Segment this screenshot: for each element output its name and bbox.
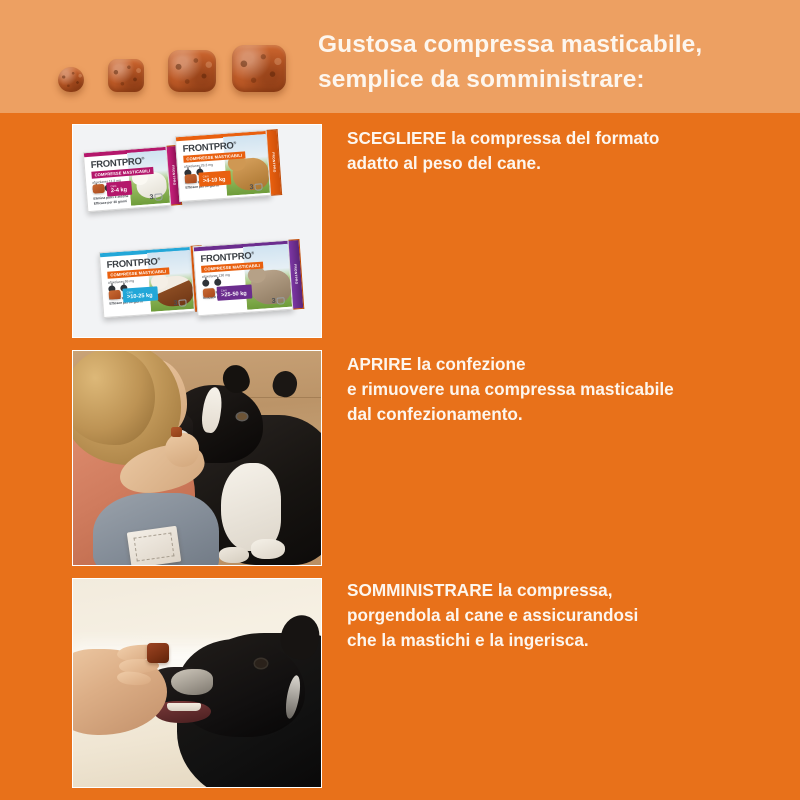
step-2-text: APRIRE la confezione e rimuovere una com… — [347, 352, 777, 426]
box-front-face: FRONTPRO® COMPRESSE MASTICABILI afoxolan… — [83, 146, 171, 212]
box-spine-text: FRONTPRO — [171, 165, 177, 186]
tick-icon — [214, 279, 221, 286]
woman-offering-tablet-photo — [72, 350, 322, 566]
box-spine-text: FRONTPRO — [293, 264, 298, 285]
flea-icon — [202, 279, 209, 286]
indoor-scene — [73, 351, 321, 565]
step-3-line-1-rest: la compressa, — [493, 580, 612, 600]
box-count: 3 — [249, 183, 262, 191]
dog-chest — [221, 463, 281, 551]
dog-paw-back — [219, 547, 249, 563]
step-3-line-3: che la mastichi e la ingerisca. — [347, 628, 777, 653]
tablet-size-l-icon — [232, 45, 286, 92]
woman-hair-front — [73, 351, 155, 445]
step-3-line-2: porgendola al cane e assicurandosi — [347, 603, 777, 628]
headline-line-2: semplice da somministrare: — [318, 63, 788, 98]
headline-line-1: Gustosa compressa masticabile, — [318, 28, 788, 63]
step-1-line-1-rest: la compressa del formato — [446, 128, 659, 148]
box-front-face: FRONTPRO® COMPRESSE MASTICABILI afoxolan… — [99, 246, 195, 318]
box-count-value: 3 — [272, 298, 276, 305]
dog-eye — [255, 659, 267, 668]
box-count-tablet-icon — [154, 193, 163, 201]
product-box-4-10kg: FRONTPRO® COMPRESSE MASTICABILI afoxolan… — [175, 130, 271, 202]
step-1-keyword: SCEGLIERE — [347, 128, 446, 148]
box-weight-badge: Cani >10-25 kg — [122, 287, 158, 303]
step-3-line-1: SOMMINISTRARE la compressa, — [347, 578, 777, 603]
box-chewable-icon — [109, 290, 122, 300]
step-2-line-3: dal confezionamento. — [347, 402, 777, 427]
product-boxes-photo: FRONTPRO® COMPRESSE MASTICABILI afoxolan… — [72, 124, 322, 338]
step-1-line-1: SCEGLIERE la compressa del formato — [347, 126, 777, 151]
woman-hand — [165, 433, 199, 467]
box-front-face: FRONTPRO® COMPRESSE MASTICABILI afoxolan… — [175, 130, 271, 202]
box-weight-badge: Cani 2-4 kg — [106, 181, 132, 197]
header-band: Gustosa compressa masticabile, semplice … — [0, 0, 800, 113]
box-weight-badge: Cani >4-10 kg — [198, 171, 230, 187]
step-1-text: SCEGLIERE la compressa del formato adatt… — [347, 126, 777, 176]
tablet-size-m-icon — [168, 50, 216, 92]
tablet-size-group — [52, 30, 282, 100]
box-count-tablet-icon — [178, 299, 186, 307]
product-box-10-25kg: FRONTPRO® COMPRESSE MASTICABILI afoxolan… — [99, 246, 195, 318]
product-box-2-4kg: FRONTPRO® COMPRESSE MASTICABILI afoxolan… — [83, 146, 171, 212]
box-chewable-icon — [92, 184, 105, 194]
chewable-tablet-in-hand — [147, 643, 169, 663]
box-weight-badge: Cani >25-50 kg — [217, 285, 253, 301]
box-weight-value: 2-4 kg — [111, 187, 128, 194]
box-chewable-icon — [203, 288, 216, 298]
box-count-tablet-icon — [254, 183, 262, 191]
box-front-face: FRONTPRO® COMPRESSE MASTICABILI afoxolan… — [193, 240, 294, 317]
step-2-line-2: e rimuovere una compressa masticabile — [347, 377, 777, 402]
box-count-tablet-icon — [276, 297, 284, 305]
box-count: 3 — [149, 193, 162, 201]
step-1-line-2: adatto al peso del cane. — [347, 151, 777, 176]
box-count: 3 — [173, 299, 186, 307]
box-count-value: 3 — [173, 300, 177, 307]
page-headline: Gustosa compressa masticabile, semplice … — [318, 28, 788, 98]
dog-paw-front — [251, 539, 285, 559]
chewable-tablet-in-hand — [171, 427, 182, 437]
step-2-line-1-rest: la confezione — [412, 354, 526, 374]
tablet-size-xs-icon — [58, 67, 84, 92]
box-count: 3 — [272, 297, 285, 305]
tablet-size-s-icon — [108, 59, 144, 92]
hand-offering-tablet-photo — [72, 578, 322, 788]
box-trademark: ® — [141, 156, 144, 161]
box-chewable-icon — [185, 174, 198, 184]
dog-ear-right — [270, 368, 300, 399]
blister-pack — [127, 526, 182, 565]
product-box-25-50kg: FRONTPRO® COMPRESSE MASTICABILI afoxolan… — [193, 240, 294, 317]
step-2-keyword: APRIRE — [347, 354, 412, 374]
box-trademark: ® — [233, 140, 236, 145]
box-trademark: ® — [251, 250, 254, 255]
dog-teeth — [167, 703, 201, 711]
box-trademark: ® — [157, 256, 160, 261]
box-count-value: 3 — [249, 184, 253, 191]
box-count-value: 3 — [149, 194, 153, 201]
box-parasite-icons — [202, 279, 221, 287]
box-spine-text: FRONTPRO — [271, 152, 276, 173]
step-2-line-1: APRIRE la confezione — [347, 352, 777, 377]
step-3-text: SOMMINISTRARE la compressa, porgendola a… — [347, 578, 777, 652]
dog-eye — [237, 413, 247, 420]
bright-indoor-scene — [73, 579, 321, 787]
step-3-keyword: SOMMINISTRARE — [347, 580, 493, 600]
dog-snout-grey — [171, 669, 213, 695]
